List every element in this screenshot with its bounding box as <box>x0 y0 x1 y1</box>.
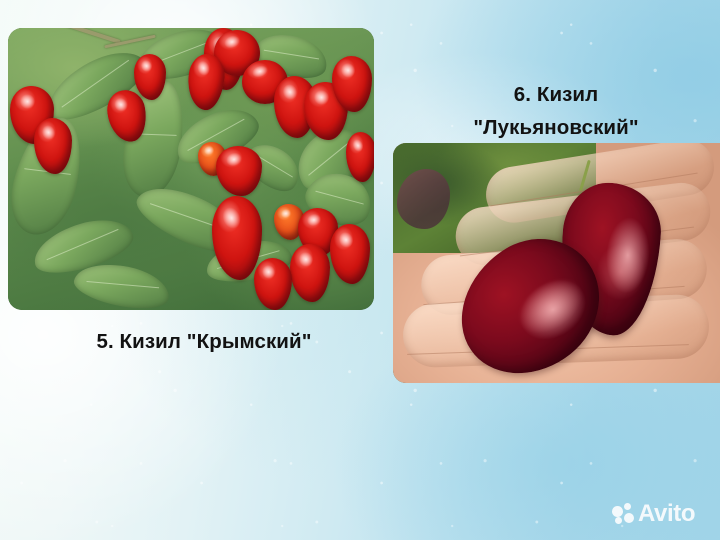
photo-softness-overlay <box>8 28 374 310</box>
avito-watermark-text: Avito <box>638 502 695 526</box>
caption-krymskiy: 5. Кизил "Крымский" <box>0 330 408 354</box>
caption-lukyanovskiy-line2: "Лукьяновский" <box>400 111 712 144</box>
slide-canvas: 5. Кизил "Крымский" 6. Кизил "Лукьяновск… <box>0 0 720 540</box>
photo-cornel-in-hand <box>393 143 720 383</box>
photo-cornel-bush <box>8 28 374 310</box>
photo-cornel-in-hand-content <box>393 143 720 383</box>
avito-dots-icon <box>612 503 634 525</box>
caption-lukyanovskiy-line1: 6. Кизил <box>400 78 712 111</box>
photo-cornel-bush-content <box>8 28 374 310</box>
caption-lukyanovskiy: 6. Кизил "Лукьяновский" <box>400 78 712 144</box>
avito-watermark: Avito <box>612 499 708 529</box>
